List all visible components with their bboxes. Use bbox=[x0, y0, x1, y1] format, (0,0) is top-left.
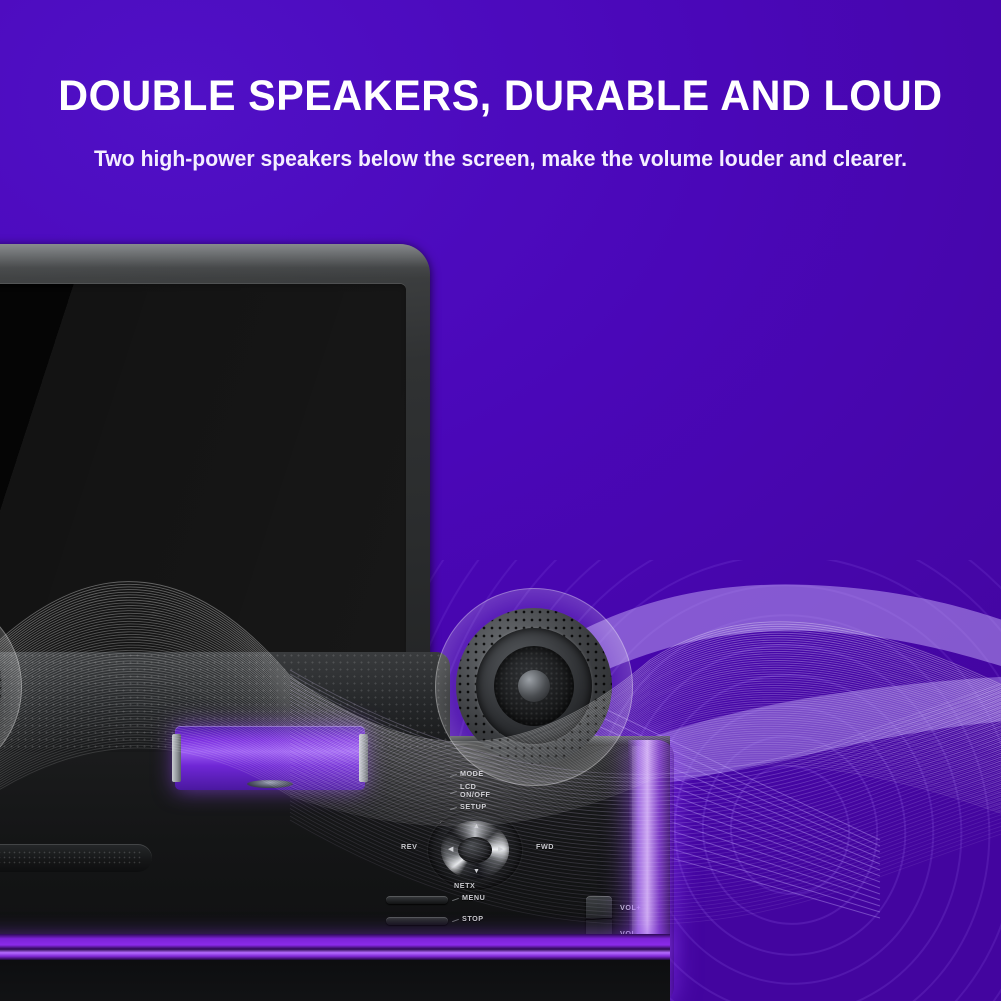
control-label-lcd-onoff[interactable]: LCD ON/OFF bbox=[460, 783, 490, 800]
navpad-right-icon: ▶ bbox=[498, 846, 503, 853]
base-bottom bbox=[0, 960, 670, 1001]
base-accent-stripe bbox=[0, 934, 670, 960]
control-label-netx[interactable]: NETX bbox=[454, 882, 475, 890]
portable-dvd-player: ieGeek ® MODE LCD ON/OFF SETUP PREV ▲ bbox=[0, 244, 670, 1001]
control-label-mode[interactable]: MODE bbox=[460, 770, 484, 778]
right-speaker-dome bbox=[518, 670, 550, 702]
hinge-notch bbox=[247, 780, 293, 788]
stop-button[interactable] bbox=[386, 917, 448, 925]
navpad-left-icon: ◀ bbox=[448, 846, 453, 853]
hinge-cap-left bbox=[172, 734, 181, 782]
lcd-line-2: ON/OFF bbox=[460, 790, 490, 799]
screen-hinge bbox=[175, 726, 365, 790]
product-banner: DOUBLE SPEAKERS, DURABLE AND LOUD Two hi… bbox=[0, 0, 1001, 1001]
control-label-menu[interactable]: MENU bbox=[462, 894, 485, 902]
lcd-tick bbox=[450, 791, 457, 794]
navigation-pad[interactable]: ▲ ▼ ◀ ▶ bbox=[428, 820, 522, 880]
banner-headline: DOUBLE SPEAKERS, DURABLE AND LOUD bbox=[20, 74, 981, 119]
mode-tick bbox=[450, 774, 457, 777]
menu-button[interactable] bbox=[386, 896, 448, 904]
hinge-cap-right bbox=[359, 734, 368, 782]
stop-tick bbox=[452, 919, 459, 922]
banner-subhead: Two high-power speakers below the screen… bbox=[30, 146, 971, 172]
brand-strip: ieGeek ® bbox=[0, 844, 152, 872]
menu-tick bbox=[452, 898, 459, 901]
navpad-down-icon: ▼ bbox=[473, 868, 480, 875]
lid-highlight bbox=[0, 244, 430, 278]
control-label-stop[interactable]: STOP bbox=[462, 915, 484, 923]
control-label-rev[interactable]: REV bbox=[401, 843, 417, 851]
brand-perforation bbox=[0, 850, 142, 866]
navpad-enter-button[interactable] bbox=[458, 837, 492, 863]
setup-tick bbox=[450, 807, 457, 810]
navpad-up-icon: ▲ bbox=[473, 823, 480, 830]
control-label-fwd[interactable]: FWD bbox=[536, 843, 554, 851]
